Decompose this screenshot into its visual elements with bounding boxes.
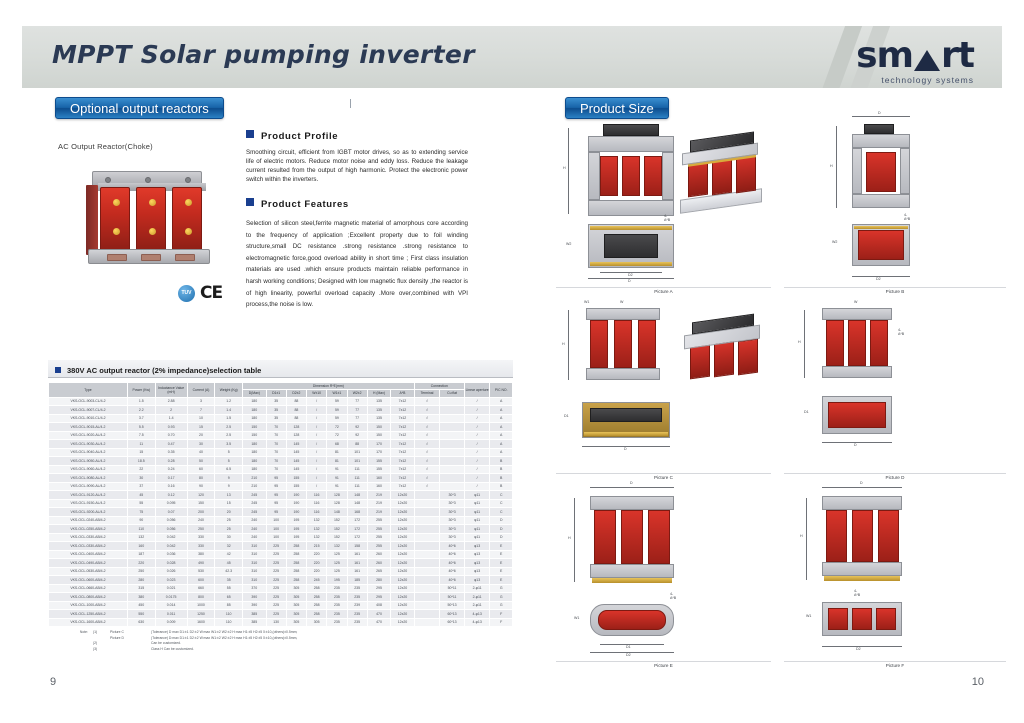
reactor-photo-caption: AC Output Reactor(Choke) — [58, 142, 153, 151]
cell-value: 258 — [286, 542, 306, 551]
cell-value: 70 — [266, 431, 286, 440]
coil — [826, 510, 847, 562]
note-prefix — [58, 647, 88, 653]
cell-type: VKS-OCL-1600-AB/4-2 — [49, 618, 128, 627]
cell-value: 7x12 — [391, 448, 414, 457]
cell-value: 7x12 — [391, 414, 414, 423]
cell-value — [414, 610, 440, 619]
col-w: W±10 — [307, 390, 327, 397]
cell-value: 12x20 — [391, 576, 414, 585]
cell-value: 180 — [243, 397, 266, 406]
cell-value: 12x20 — [391, 610, 414, 619]
table-row: VKS-OCL-9080-AL/4-2300.1780921095155/911… — [49, 474, 513, 483]
cell-value: φ11 — [464, 525, 490, 534]
col-d-max: D(Max) — [243, 390, 266, 397]
cell-value: 59 — [327, 414, 347, 423]
cell-value — [414, 593, 440, 602]
cell-value: 225 — [266, 567, 286, 576]
cell-value: 245 — [307, 576, 327, 585]
cell-value: 305 — [307, 618, 327, 627]
table-row: VKS-OCL-0600-AB/4-22800.0236003531022525… — [49, 576, 513, 585]
dimension-label-d: D — [878, 111, 881, 115]
cell-value: 132 — [307, 516, 327, 525]
cell-value: 258 — [307, 610, 327, 619]
cell-value: 18.5 — [127, 457, 155, 466]
cell-value: 0.023 — [155, 576, 187, 585]
cell-value: 240 — [187, 516, 215, 525]
cell-value: A — [490, 423, 513, 432]
cell-value: 91 — [327, 465, 347, 474]
cell-value: √ — [414, 457, 440, 466]
cell-value: 0.036 — [155, 550, 187, 559]
cell-value — [440, 465, 465, 474]
cell-value: 40*6 — [440, 559, 465, 568]
cell-value: 330 — [187, 533, 215, 542]
cell-value — [414, 567, 440, 576]
cell-value: 132 — [127, 533, 155, 542]
spec-table-notes: Note:(1)Picture C(Tolerance) D max D1:±1… — [58, 630, 297, 652]
dimension-label-d2: D2 — [856, 647, 861, 651]
cell-value: 2.5 — [215, 431, 243, 440]
col-weight: Weight (Kg) — [215, 383, 243, 398]
cell-value: 91 — [327, 474, 347, 483]
cell-value: 95 — [266, 482, 286, 491]
cell-value: D — [490, 516, 513, 525]
figure-caption-d: Picture D — [784, 473, 1006, 481]
cell-value: 258 — [307, 584, 327, 593]
cell-value: 5 — [215, 448, 243, 457]
cell-value: 0.009 — [155, 618, 187, 627]
note-row: (3)Class H Can be customized. — [58, 647, 297, 653]
cell-value: 305 — [286, 618, 306, 627]
cell-type: VKS-OCL-9030-AL/4-2 — [49, 440, 128, 449]
coil — [594, 510, 616, 564]
cell-value: 70 — [266, 465, 286, 474]
cell-value: 180 — [243, 448, 266, 457]
cell-value: 0.095 — [155, 499, 187, 508]
cell-value: 245 — [243, 508, 266, 517]
cell-value: D — [490, 525, 513, 534]
cell-value: A — [490, 431, 513, 440]
page-number-right: 10 — [972, 676, 984, 688]
cell-value: 30 — [127, 474, 155, 483]
cell-value: 1000 — [187, 601, 215, 610]
dimension-line-d2 — [822, 646, 902, 647]
dimension-line-h — [804, 310, 805, 378]
cell-value: 240 — [243, 533, 266, 542]
cell-value: 101 — [347, 448, 367, 457]
cell-value: 310 — [243, 567, 266, 576]
coil — [738, 339, 758, 376]
cell-value: 160 — [367, 474, 390, 483]
cell-value: 70 — [266, 448, 286, 457]
spec-table-body: VKS-OCL-9003-CL/4-21.52.8831.21803588/59… — [49, 397, 513, 627]
cell-value: 12x20 — [391, 499, 414, 508]
cell-value: 70 — [266, 457, 286, 466]
cell-value: 30*3 — [440, 516, 465, 525]
dimension-line-d2 — [590, 652, 674, 653]
figure-caption-f: Picture F — [784, 661, 1006, 669]
cell-value: √ — [414, 423, 440, 432]
cell-value: 152 — [327, 533, 347, 542]
core-lower-yoke — [590, 564, 674, 578]
cell-value: 0.0175 — [155, 593, 187, 602]
cell-value: 30 — [215, 533, 243, 542]
cell-value: 450 — [127, 601, 155, 610]
cell-value — [440, 457, 465, 466]
cell-value: C — [490, 499, 513, 508]
cell-value: 77 — [347, 414, 367, 423]
dimension-label-mounting-holes: 4-A*B — [670, 592, 676, 600]
figure-picture-f: H D D2 W1 4-A*B Picture F — [784, 490, 1006, 668]
core-lower-yoke — [588, 200, 674, 216]
cell-value: 280 — [127, 576, 155, 585]
cell-value: 250 — [187, 525, 215, 534]
cell-value: 305 — [286, 601, 306, 610]
table-row: VKS-OCL-0240-AB/4-2900.05624025240100195… — [49, 516, 513, 525]
cell-value: 80 — [187, 474, 215, 483]
coil-top-view — [828, 402, 886, 428]
cell-value: √ — [414, 465, 440, 474]
bullet-square-icon — [55, 367, 61, 373]
cell-value: 12x20 — [391, 516, 414, 525]
dimension-label-d2: D2 — [626, 653, 631, 657]
dimension-line-h — [568, 310, 569, 380]
cell-value: 215 — [307, 542, 327, 551]
isometric-render-c — [678, 314, 770, 392]
logo-text-part2: rt — [941, 38, 974, 74]
cell-value: / — [307, 448, 327, 457]
cell-value: G — [490, 593, 513, 602]
cell-value: 15 — [215, 499, 243, 508]
cell-value: √ — [414, 440, 440, 449]
cell-value: 9 — [215, 482, 243, 491]
colgroup-connection: Connection — [414, 383, 464, 390]
dimension-label-d2: D2 — [876, 277, 881, 281]
cell-value: 161 — [347, 550, 367, 559]
cell-value: 30*3 — [440, 508, 465, 517]
cell-value — [440, 482, 465, 491]
spec-table-group-header-row: Type Power (Kw) Inductance Value (mH) Cu… — [49, 383, 513, 390]
cell-value: 180 — [243, 465, 266, 474]
cell-value: 130 — [266, 618, 286, 627]
cell-value: 13 — [215, 491, 243, 500]
table-row: VKS-OCL-9150-AL/4-2550.09515015245951901… — [49, 499, 513, 508]
cell-value: 65 — [215, 593, 243, 602]
cell-value: 12x20 — [391, 559, 414, 568]
table-row: VKS-OCL-0250-AB/4-21100.0562502524010019… — [49, 525, 513, 534]
cell-value: 7x12 — [391, 423, 414, 432]
table-row: VKS-OCL-9010-CL/4-23.71.4101.51803588/59… — [49, 414, 513, 423]
cell-value: 235 — [347, 610, 367, 619]
cell-value: 160 — [127, 542, 155, 551]
cell-type: VKS-OCL-9060-AL/4-2 — [49, 465, 128, 474]
cell-value: 40 — [187, 448, 215, 457]
coil — [714, 341, 734, 378]
cell-value: 390 — [243, 593, 266, 602]
dimension-label-h: H — [563, 166, 566, 170]
terminal-icon — [185, 228, 192, 235]
cell-value: 155 — [367, 457, 390, 466]
cell-value: 258 — [307, 601, 327, 610]
cell-value: E — [490, 567, 513, 576]
page-header: MPPT Solar pumping inverter sm rt techno… — [22, 26, 1002, 88]
cell-value: 150 — [367, 423, 390, 432]
cell-value: 315 — [127, 584, 155, 593]
cell-value: 110 — [127, 525, 155, 534]
terminal-icon — [185, 199, 192, 206]
page-number-left: 9 — [50, 676, 56, 688]
cell-value: 0.93 — [155, 423, 187, 432]
product-size-figures: H D D2 4-A*B W2 Picture A — [556, 122, 1011, 667]
cell-value: √ — [414, 474, 440, 483]
cell-value: 30 — [187, 440, 215, 449]
table-row: VKS-OCL-1000-AB/4-24500.0141000853902253… — [49, 601, 513, 610]
cell-value: 116 — [307, 508, 327, 517]
cell-value: 1.5 — [215, 414, 243, 423]
cell-value: 190 — [286, 499, 306, 508]
cell-value: 132 — [307, 533, 327, 542]
cell-value: 5 — [215, 457, 243, 466]
dimension-line-d — [590, 487, 674, 488]
cell-value: 37 — [127, 482, 155, 491]
cell-value: 0.042 — [155, 533, 187, 542]
cell-value: φ13 — [464, 567, 490, 576]
cell-value — [440, 397, 465, 406]
cell-value: 95 — [266, 474, 286, 483]
cell-value: 7x12 — [391, 482, 414, 491]
dimension-label-w1: W1 — [574, 616, 579, 620]
cell-value: 370 — [243, 584, 266, 593]
dimension-label-w: W — [854, 300, 857, 304]
core-left-leg — [852, 148, 862, 194]
cell-value: 42.3 — [215, 567, 243, 576]
cell-value: 12x20 — [391, 508, 414, 517]
dimension-label-h: H — [562, 342, 565, 346]
cell-value: 30*3 — [440, 499, 465, 508]
cell-value: 0.35 — [155, 448, 187, 457]
cell-value: 260 — [367, 550, 390, 559]
cell-value: 239 — [347, 601, 367, 610]
logo-text-part1: sm — [856, 38, 913, 74]
cell-value: 260 — [367, 559, 390, 568]
cell-value: 35 — [266, 414, 286, 423]
cell-value: 2.2 — [127, 406, 155, 415]
cell-value — [414, 542, 440, 551]
copper-busbar — [824, 576, 900, 581]
cell-value: 0.17 — [155, 474, 187, 483]
cell-value: 660 — [187, 584, 215, 593]
cell-value: 225 — [266, 584, 286, 593]
cell-value: 0.014 — [155, 601, 187, 610]
cell-type: VKS-OCL-0490-AB/4-2 — [49, 559, 128, 568]
terminal-icon — [149, 228, 156, 235]
figure-caption-e: Picture E — [556, 661, 771, 669]
table-row: VKS-OCL-0330-AB/4-21600.0423303231022525… — [49, 542, 513, 551]
certification-marks: TUV CE — [178, 283, 222, 303]
cell-value: 161 — [347, 559, 367, 568]
table-row: VKS-OCL-9020-AL/4-27.50.70202.515070128/… — [49, 431, 513, 440]
cell-value: / — [464, 397, 490, 406]
cell-type: VKS-OCL-0240-AB/4-2 — [49, 516, 128, 525]
table-row: VKS-OCL-9050-AL/4-218.50.2850518070145/8… — [49, 457, 513, 466]
cell-value: 408 — [367, 601, 390, 610]
cell-value: 219 — [367, 499, 390, 508]
cell-value: 170 — [367, 440, 390, 449]
dimension-line-d — [822, 442, 892, 443]
cell-value: 12x20 — [391, 533, 414, 542]
cell-value: 50*11 — [440, 584, 465, 593]
cell-value: 185 — [347, 576, 367, 585]
page-tick-mark — [350, 99, 351, 108]
cell-value: 225 — [266, 542, 286, 551]
cell-value: 1600 — [187, 618, 215, 627]
cell-value: 90 — [187, 482, 215, 491]
cell-value: 150 — [243, 431, 266, 440]
cell-value: φ11 — [464, 499, 490, 508]
cell-value: / — [464, 465, 490, 474]
cell-value: 7x12 — [391, 457, 414, 466]
isometric-render-a — [674, 134, 770, 220]
cell-value: 12x20 — [391, 567, 414, 576]
cell-value: 225 — [266, 550, 286, 559]
cell-value: 190 — [286, 508, 306, 517]
terminal-array — [604, 234, 658, 258]
cell-value — [414, 618, 440, 627]
cell-value: 235 — [327, 593, 347, 602]
cell-value — [414, 601, 440, 610]
cell-value: 265 — [367, 567, 390, 576]
spec-table-title: 380V AC output reactor (2% impedance)sel… — [67, 366, 261, 375]
cell-value: 72 — [327, 431, 347, 440]
cell-value: 172 — [347, 533, 367, 542]
cell-value: 195 — [286, 525, 306, 534]
heading-product-features-label: Product Features — [261, 199, 349, 210]
cell-value: 235 — [327, 601, 347, 610]
cell-value: 0.011 — [155, 610, 187, 619]
cell-value: A — [490, 448, 513, 457]
cell-value: 310 — [243, 542, 266, 551]
cell-value: 9 — [215, 474, 243, 483]
cell-value: 630 — [127, 618, 155, 627]
cell-value: 12x20 — [391, 550, 414, 559]
cell-value: 30*3 — [440, 491, 465, 500]
figure-caption-a: Picture A — [556, 287, 771, 295]
table-row: VKS-OCL-0490-AB/4-22200.0284904531022525… — [49, 559, 513, 568]
coil — [644, 156, 662, 196]
col-current: Current (A) — [187, 383, 215, 398]
logo-triangle-icon — [914, 50, 940, 71]
cell-value: 7.5 — [127, 431, 155, 440]
dimension-label-h: H — [830, 164, 833, 168]
cell-type: VKS-OCL-0800-AB/4-2 — [49, 593, 128, 602]
cell-value: 245 — [243, 499, 266, 508]
ce-mark-icon: CE — [200, 283, 222, 303]
cell-value: 120 — [187, 491, 215, 500]
cell-value: / — [307, 431, 327, 440]
reactor-coil — [172, 187, 202, 251]
cell-value: 132 — [307, 525, 327, 534]
cell-value: 15 — [127, 448, 155, 457]
dimension-line-d1 — [600, 644, 664, 645]
cell-value: 77 — [347, 406, 367, 415]
reactor-product-photo — [78, 163, 228, 283]
cell-value: √ — [414, 448, 440, 457]
dimension-line-d — [588, 278, 674, 279]
coil — [622, 156, 640, 196]
cell-value: 30*3 — [440, 525, 465, 534]
cell-value: 128 — [327, 491, 347, 500]
cell-value: 128 — [286, 423, 306, 432]
cell-value: 470 — [367, 618, 390, 627]
cell-value: 380 — [127, 593, 155, 602]
cell-value: φ13 — [464, 559, 490, 568]
cell-value: 145 — [286, 465, 306, 474]
dimension-label-d1: D1 — [564, 414, 569, 418]
col-ab: A*B — [391, 390, 414, 397]
table-row: VKS-OCL-1250-AB/4-25500.0111250110385225… — [49, 610, 513, 619]
dimension-label-h: H — [798, 340, 801, 344]
cell-value: φ13 — [464, 542, 490, 551]
cell-value: 7x12 — [391, 406, 414, 415]
cell-value: 72 — [327, 423, 347, 432]
cell-value: 12x20 — [391, 525, 414, 534]
cell-value: 245 — [243, 491, 266, 500]
cell-value: 45 — [215, 559, 243, 568]
cell-value — [440, 423, 465, 432]
core-upper-yoke — [822, 496, 902, 510]
cell-value — [414, 550, 440, 559]
cell-value: 220 — [307, 567, 327, 576]
cell-value: C — [490, 491, 513, 500]
cell-value: 0.47 — [155, 440, 187, 449]
cell-value: 219 — [367, 508, 390, 517]
cell-value — [440, 440, 465, 449]
dimension-label-w2: W2 — [566, 242, 571, 246]
cell-value: 0.07 — [155, 508, 187, 517]
dimension-label-w2: W2 — [832, 240, 837, 244]
cell-value: 258 — [286, 576, 306, 585]
cell-value — [414, 508, 440, 517]
cell-value: 258 — [286, 567, 306, 576]
cell-value: / — [307, 423, 327, 432]
cell-value: 88 — [286, 406, 306, 415]
cell-value: 1.4 — [215, 406, 243, 415]
cell-value: 255 — [367, 516, 390, 525]
cell-value — [414, 533, 440, 542]
cell-value: 4-φ13 — [464, 618, 490, 627]
cell-value: E — [490, 559, 513, 568]
reactor-side-core — [86, 185, 98, 255]
cell-value: 25 — [215, 525, 243, 534]
cell-value: / — [464, 457, 490, 466]
cell-value: 2.5 — [215, 423, 243, 432]
cell-value: 35 — [215, 576, 243, 585]
cell-value: 0.042 — [155, 542, 187, 551]
col-h-max: H (Max) — [367, 390, 390, 397]
cell-value: F — [490, 618, 513, 627]
cell-value: / — [307, 482, 327, 491]
cell-value: 111 — [347, 465, 367, 474]
section-title-product-size: Product Size — [565, 97, 669, 119]
cell-value: E — [490, 542, 513, 551]
cell-value: 42 — [215, 550, 243, 559]
cell-value: C — [490, 508, 513, 517]
cell-value: 116 — [307, 499, 327, 508]
table-row: VKS-OCL-0660-AB/4-23150.0216605537022530… — [49, 584, 513, 593]
dimension-label-mounting-holes: 4-A*B — [854, 589, 860, 597]
cell-value: G — [490, 584, 513, 593]
